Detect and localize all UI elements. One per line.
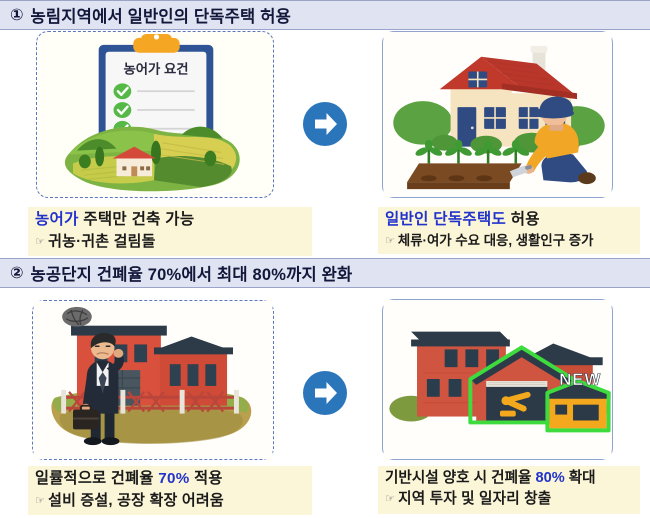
house-and-farmer-illustration [383, 32, 612, 197]
arrow-right-section-1 [302, 101, 348, 147]
pointing-hand-icon: ☞ [385, 235, 395, 247]
infographic-sheet: ① 농림지역에서 일반인의 단독주택 허용 농어가 요건 [0, 0, 650, 518]
pointing-hand-icon: ☞ [35, 236, 45, 248]
caption-line-1: 일률적으로 건폐율 70% 적용 [35, 469, 305, 489]
expanded-factory-illustration: NEW [383, 300, 612, 459]
caption-line-1: 기반시설 양호 시 건폐율 80% 확대 [385, 469, 633, 488]
section-2-after-caption: 기반시설 양호 시 건폐율 80% 확대 ☞지역 투자 및 일자리 창출 [378, 466, 640, 514]
section-number-1: ① [10, 5, 24, 25]
section-2-before-caption: 일률적으로 건폐율 70% 적용 ☞설비 증설, 공장 확장 어려움 [28, 466, 312, 515]
section-2-before-panel [32, 300, 274, 460]
section-1-before-caption: 농어가 주택만 건축 가능 ☞귀농·귀촌 걸림돌 [28, 207, 312, 256]
caption-line-2: ☞체류·여가 수요 대응, 생활인구 증가 [385, 232, 633, 250]
worried-businessman-factory-illustration [33, 301, 273, 459]
circle-arrow-right-icon [302, 370, 348, 416]
caption-line-1: 일반인 단독주택도 허용 [385, 210, 633, 230]
section-number-2: ② [10, 263, 24, 283]
section-header-1: ① 농림지역에서 일반인의 단독주택 허용 [0, 0, 650, 30]
caption-line-1: 농어가 주택만 건축 가능 [35, 210, 305, 230]
pointing-hand-icon: ☞ [35, 495, 45, 507]
clipboard-title: 농어가 요건 [123, 60, 188, 76]
section-2-after-panel: NEW [382, 299, 613, 460]
section-1-before-panel: 농어가 요건 [36, 31, 274, 198]
stress-cloud-icon [62, 307, 92, 327]
section-1-after-panel [382, 31, 613, 198]
section-1-after-caption: 일반인 단독주택도 허용 ☞체류·여가 수요 대응, 생활인구 증가 [378, 207, 640, 254]
new-badge: NEW [559, 370, 601, 389]
section-title-1: 농림지역에서 일반인의 단독주택 허용 [31, 3, 291, 27]
caption-line-2: ☞설비 증설, 공장 확장 어려움 [35, 491, 305, 511]
section-title-2: 농공단지 건폐율 70%에서 최대 80%까지 완화 [31, 261, 353, 285]
caption-line-2: ☞지역 투자 및 일자리 창출 [385, 490, 633, 509]
caption-line-2: ☞귀농·귀촌 걸림돌 [35, 232, 305, 252]
arrow-right-section-2 [302, 370, 348, 416]
circle-arrow-right-icon [302, 101, 348, 147]
section-header-2: ② 농공단지 건폐율 70%에서 최대 80%까지 완화 [0, 258, 650, 288]
farmland-illustration [65, 127, 240, 192]
clipboard-farmland-illustration: 농어가 요건 [37, 32, 273, 197]
pointing-hand-icon: ☞ [385, 493, 395, 505]
